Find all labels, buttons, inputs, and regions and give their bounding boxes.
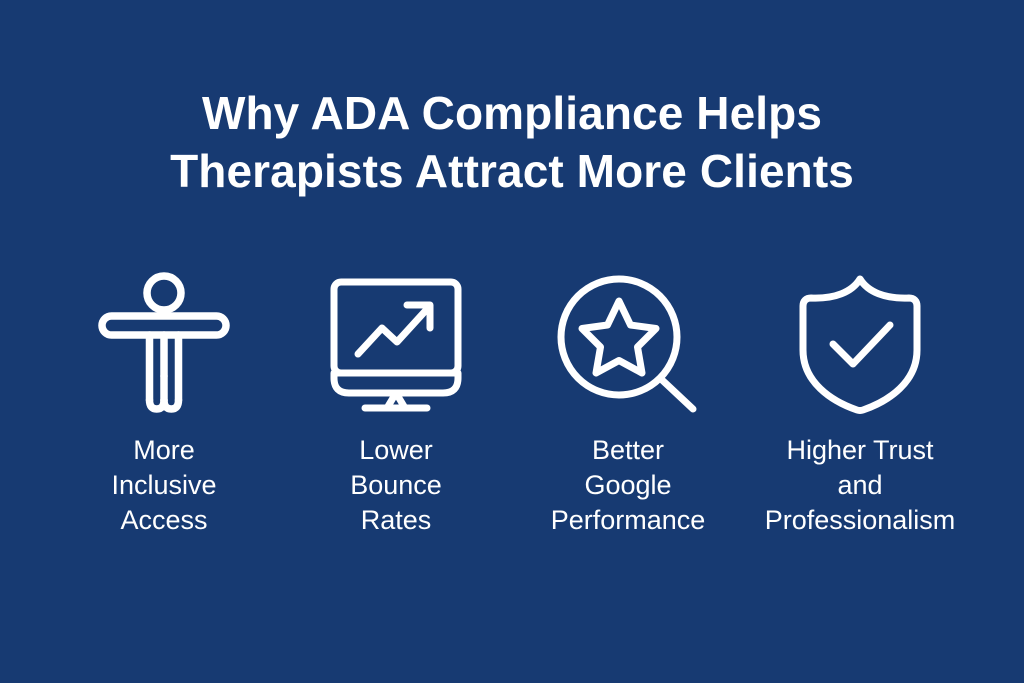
benefit-label-line-3: Access — [49, 503, 279, 538]
benefit-card-trust-professionalism: Higher Trust and Professionalism — [744, 270, 976, 538]
benefit-label-line-1: Better — [513, 433, 743, 468]
benefit-label-line-1: Lower — [281, 433, 511, 468]
benefit-label-line-1: More — [49, 433, 279, 468]
accessibility-person-icon — [89, 270, 239, 415]
poster-canvas: Why ADA Compliance Helps Therapists Attr… — [0, 0, 1024, 683]
page-title: Why ADA Compliance Helps Therapists Attr… — [62, 84, 962, 200]
magnifier-star-icon — [553, 270, 703, 415]
benefit-card-row: More Inclusive Access Lower Bounce — [0, 270, 1024, 538]
benefit-card-label: Lower Bounce Rates — [281, 433, 511, 538]
benefit-card-label: More Inclusive Access — [49, 433, 279, 538]
benefit-label-line-2: Inclusive — [49, 468, 279, 503]
benefit-card-bounce-rates: Lower Bounce Rates — [280, 270, 512, 538]
benefit-label-line-3: Rates — [281, 503, 511, 538]
shield-check-icon — [785, 270, 935, 415]
benefit-label-line-2: and — [745, 468, 975, 503]
page-title-line-1: Why ADA Compliance Helps — [62, 84, 962, 142]
benefit-label-line-3: Performance — [513, 503, 743, 538]
benefit-card-google-performance: Better Google Performance — [512, 270, 744, 538]
page-title-line-2: Therapists Attract More Clients — [62, 142, 962, 200]
benefit-label-line-1: Higher Trust — [745, 433, 975, 468]
benefit-card-label: Better Google Performance — [513, 433, 743, 538]
benefit-label-line-3: Professionalism — [745, 503, 975, 538]
monitor-growth-chart-icon — [321, 270, 471, 415]
benefit-label-line-2: Google — [513, 468, 743, 503]
benefit-label-line-2: Bounce — [281, 468, 511, 503]
benefit-card-label: Higher Trust and Professionalism — [745, 433, 975, 538]
benefit-card-inclusive-access: More Inclusive Access — [48, 270, 280, 538]
